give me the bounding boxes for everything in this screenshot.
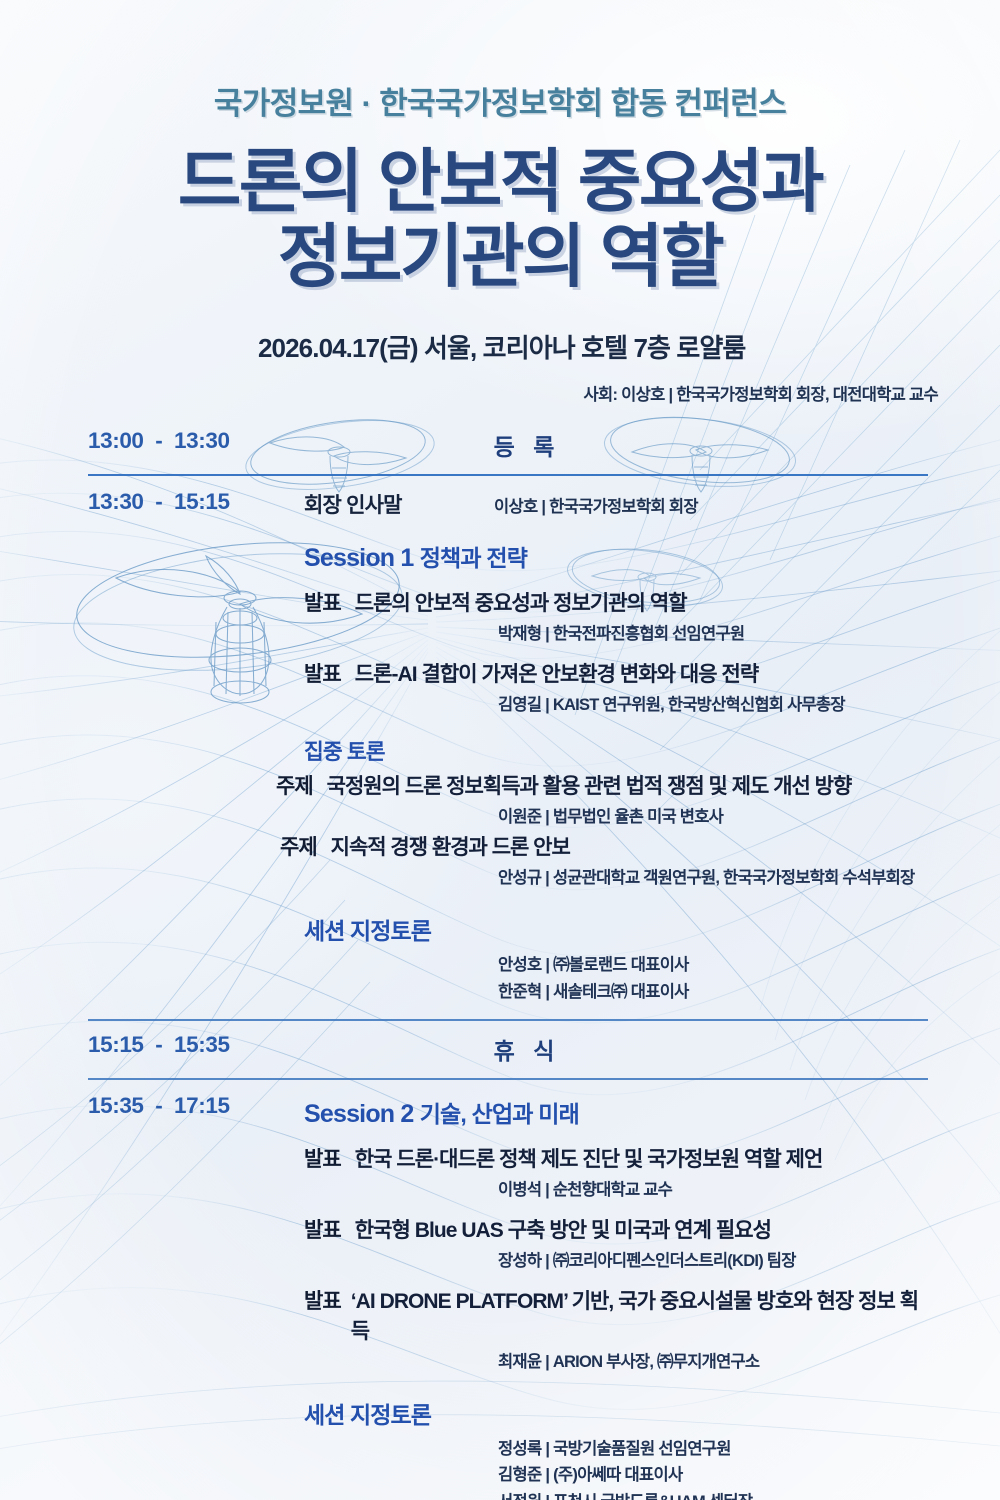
session1-topic-2: 주제 지속적 경쟁 환경과 드론 안보 안성규 | 성균관대학교 객원연구원, … xyxy=(276,831,928,888)
panelist: 김형준 | (주)아쎄따 대표이사 xyxy=(498,1462,928,1489)
talk-title: 한국형 Blue UAS 구축 방안 및 미국과 연계 필요성 xyxy=(355,1214,771,1244)
talk-tag: 발표 xyxy=(304,658,341,688)
greeting-speaker: 이상호 | 한국국가정보학회 회장 xyxy=(494,493,698,517)
topic-speaker: 이원준 | 법무법인 율촌 미국 변호사 xyxy=(276,803,928,827)
poster-content: 국가정보원 · 한국국가정보학회 합동 컨퍼런스 드론의 안보적 중요성과 정보… xyxy=(0,78,1000,1500)
poster-eyebrow: 국가정보원 · 한국국가정보학회 합동 컨퍼런스 xyxy=(0,78,1000,123)
divider-after-break xyxy=(88,1078,928,1080)
session2-panelist-list: 정성록 | 국방기술품질원 선임연구원 김형준 | (주)아쎄따 대표이사 서정… xyxy=(276,1436,928,1500)
schedule-row-session2: 15:35 - 17:15 Session 2 기술, 산업과 미래 발표 한국… xyxy=(88,1080,928,1500)
registration-label: 등 록 xyxy=(276,428,928,462)
session2-talk-1: 발표 한국 드론·대드론 정책 제도 진단 및 국가정보원 역할 제언 이병석 … xyxy=(276,1143,928,1200)
session2-talk-2: 발표 한국형 Blue UAS 구축 방안 및 미국과 연계 필요성 장성하 |… xyxy=(276,1214,928,1271)
talk-tag: 발표 xyxy=(304,587,341,617)
panelist: 한준혁 | 새솔테크㈜ 대표이사 xyxy=(498,979,928,1006)
session1-panel-heading: 세션 지정토론 xyxy=(276,912,928,946)
registration-time: 13:00 - 13:30 xyxy=(88,428,276,454)
title-line-2: 정보기관의 역할 xyxy=(0,220,1000,295)
talk-speaker: 이병석 | 순천향대학교 교수 xyxy=(276,1176,928,1200)
session1-body: 회장 인사말 이상호 | 한국국가정보학회 회장 Session 1 정책과 전… xyxy=(276,489,928,1005)
schedule-table: 13:00 - 13:30 등 록 13:30 - 15:15 회장 인사말 이… xyxy=(0,417,1000,1500)
panelist: 정성록 | 국방기술품질원 선임연구원 xyxy=(498,1436,928,1463)
session2-body: Session 2 기술, 산업과 미래 발표 한국 드론·대드론 정책 제도 … xyxy=(276,1093,928,1500)
topic-tag: 주제 xyxy=(276,770,313,800)
session1-topic-1: 주제 국정원의 드론 정보획득과 활용 관련 법적 쟁점 및 제도 개선 방향 … xyxy=(276,770,928,827)
talk-speaker: 박재형 | 한국전파진흥협회 선임연구원 xyxy=(276,620,928,644)
session2-heading: Session 2 기술, 산업과 미래 xyxy=(276,1095,928,1129)
session1-label: Session 1 xyxy=(304,544,414,572)
topic-title: 지속적 경쟁 환경과 드론 안보 xyxy=(331,831,570,861)
talk-speaker: 장성하 | ㈜코리아디펜스인더스트리(KDI) 팀장 xyxy=(276,1247,928,1271)
talk-tag: 발표 xyxy=(304,1285,341,1315)
talk-title: ‘AI DRONE PLATFORM’ 기반, 국가 중요시설물 방호와 현장 … xyxy=(351,1285,928,1345)
talk-speaker: 김영길 | KAIST 연구위원, 한국방산혁신협회 사무총장 xyxy=(276,691,928,715)
event-datetime-venue: 2026.04.17(금) 서울, 코리아나 호텔 7층 로얄룸 xyxy=(0,328,1000,365)
conference-poster: 국가정보원 · 한국국가정보학회 합동 컨퍼런스 드론의 안보적 중요성과 정보… xyxy=(0,0,1000,1500)
talk-speaker: 최재윤 | ARION 부사장, ㈜무지개연구소 xyxy=(276,1348,928,1372)
divider-after-registration xyxy=(88,474,928,476)
schedule-row-break: 15:15 - 15:35 휴 식 xyxy=(88,1021,928,1078)
session2-time: 15:35 - 17:15 xyxy=(88,1093,276,1119)
greeting-title: 회장 인사말 xyxy=(276,489,494,519)
session2-panel-heading: 세션 지정토론 xyxy=(276,1396,928,1430)
break-time: 15:15 - 15:35 xyxy=(88,1032,276,1058)
break-label: 휴 식 xyxy=(276,1032,928,1066)
session1-heading: Session 1 정책과 전략 xyxy=(276,539,928,573)
session1-subtitle: 정책과 전략 xyxy=(420,545,527,571)
focus-discussion-heading: 집중 토론 xyxy=(276,735,928,766)
title-line-1: 드론의 안보적 중요성과 xyxy=(0,145,1000,220)
session1-talk-2: 발표 드론-AI 결합이 가져온 안보환경 변화와 대응 전략 김영길 | KA… xyxy=(276,658,928,715)
moderator-line: 사회: 이상호 | 한국국가정보학회 회장, 대전대학교 교수 xyxy=(0,381,1000,405)
topic-speaker: 안성규 | 성균관대학교 객원연구원, 한국국가정보학회 수석부회장 xyxy=(276,864,928,888)
greeting-row: 회장 인사말 이상호 | 한국국가정보학회 회장 xyxy=(276,489,928,519)
session2-talk-3: 발표 ‘AI DRONE PLATFORM’ 기반, 국가 중요시설물 방호와 … xyxy=(276,1285,928,1372)
divider-before-break xyxy=(88,1019,928,1021)
panelist: 안성호 | ㈜볼로랜드 대표이사 xyxy=(498,952,928,979)
talk-tag: 발표 xyxy=(304,1214,341,1244)
topic-title: 국정원의 드론 정보획득과 활용 관련 법적 쟁점 및 제도 개선 방향 xyxy=(327,770,852,800)
talk-title: 드론의 안보적 중요성과 정보기관의 역할 xyxy=(355,587,687,617)
session2-subtitle: 기술, 산업과 미래 xyxy=(420,1101,579,1127)
talk-title: 한국 드론·대드론 정책 제도 진단 및 국가정보원 역할 제언 xyxy=(355,1143,823,1173)
session2-label: Session 2 xyxy=(304,1100,414,1128)
schedule-row-session1: 13:30 - 15:15 회장 인사말 이상호 | 한국국가정보학회 회장 S… xyxy=(88,476,928,1019)
session1-talk-1: 발표 드론의 안보적 중요성과 정보기관의 역할 박재형 | 한국전파진흥협회 … xyxy=(276,587,928,644)
session1-time: 13:30 - 15:15 xyxy=(88,489,276,515)
session1-panelist-list: 안성호 | ㈜볼로랜드 대표이사 한준혁 | 새솔테크㈜ 대표이사 xyxy=(276,952,928,1005)
talk-tag: 발표 xyxy=(304,1143,341,1173)
talk-title: 드론-AI 결합이 가져온 안보환경 변화와 대응 전략 xyxy=(355,658,758,688)
topic-tag: 주제 xyxy=(280,831,317,861)
page-title: 드론의 안보적 중요성과 정보기관의 역할 xyxy=(0,145,1000,294)
schedule-row-registration: 13:00 - 13:30 등 록 xyxy=(88,417,928,474)
